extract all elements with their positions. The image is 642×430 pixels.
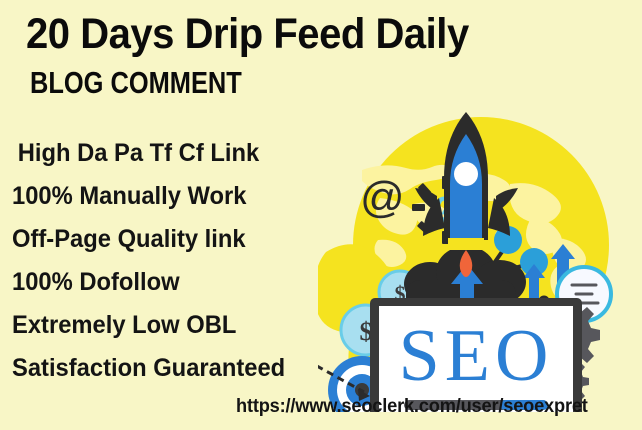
monitor: SEO bbox=[370, 298, 582, 412]
list-item: Off-Page Quality link bbox=[12, 218, 335, 261]
list-item: Satisfaction Guaranteed bbox=[12, 347, 335, 390]
list-item: 100% Dofollow bbox=[12, 261, 335, 304]
page-title: 20 Days Drip Feed Daily bbox=[26, 12, 469, 57]
seo-illustration: $ $ $ @ bbox=[318, 112, 642, 412]
page-subtitle: BLOG COMMENT bbox=[30, 66, 242, 100]
promo-banner: $ $ $ @ bbox=[0, 0, 642, 430]
list-item: High Da Pa Tf Cf Link bbox=[12, 132, 335, 175]
monitor-seo-text: SEO bbox=[399, 315, 554, 397]
at-symbol: @ bbox=[360, 173, 405, 222]
site-url[interactable]: https://www.seoclerk.com/user/seoexpret bbox=[236, 396, 588, 418]
svg-text:@: @ bbox=[360, 173, 405, 222]
list-item: Extremely Low OBL bbox=[12, 304, 335, 347]
feature-list: High Da Pa Tf Cf Link 100% Manually Work… bbox=[12, 132, 352, 390]
list-item: 100% Manually Work bbox=[12, 175, 335, 218]
